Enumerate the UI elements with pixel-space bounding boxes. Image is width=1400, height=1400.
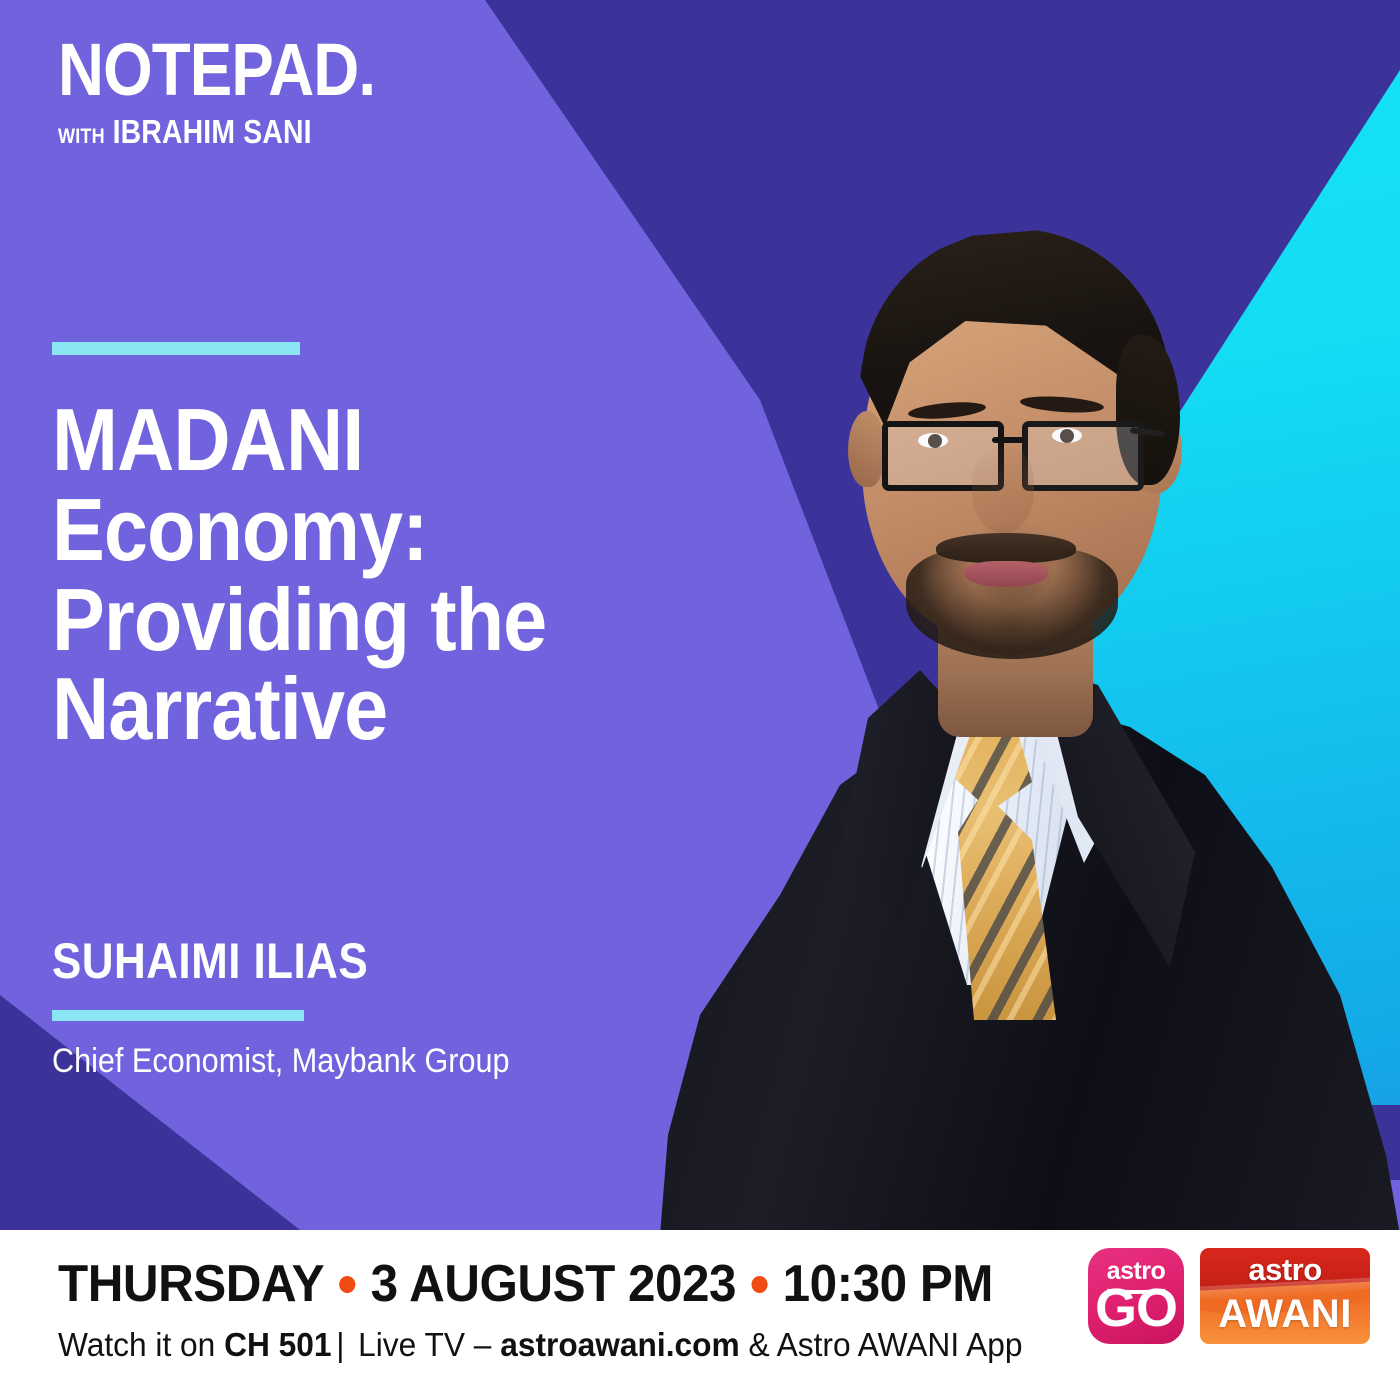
moustache	[936, 533, 1076, 563]
astro-awani-wordmark: astro	[1200, 1252, 1370, 1288]
watch-channel: CH 501	[224, 1326, 331, 1363]
show-host-line: WITH IBRAHIM SANI	[58, 113, 375, 151]
schedule-line: THURSDAY 3 AUGUST 2023 10:30 PM	[58, 1254, 993, 1314]
episode-title-line-2: Providing the	[52, 575, 682, 665]
watch-suffix: & Astro AWANI App	[740, 1326, 1023, 1363]
mouth	[964, 561, 1048, 587]
glasses-bridge	[992, 437, 1024, 443]
guest-role: Chief Economist, Maybank Group	[52, 1042, 510, 1081]
footer-bar: THURSDAY 3 AUGUST 2023 10:30 PM Watch it…	[0, 1230, 1400, 1400]
promo-poster: NOTEPAD. WITH IBRAHIM SANI MADANI Econom…	[0, 0, 1400, 1400]
watch-website[interactable]: astroawani.com	[500, 1326, 739, 1363]
astro-go-logo[interactable]: astro GO	[1088, 1248, 1184, 1344]
astro-go-label: GO	[1088, 1281, 1184, 1335]
watch-pipe: |	[332, 1326, 350, 1363]
separator-dot-icon-2	[751, 1276, 767, 1293]
partner-logos: astro GO astro AWANI	[1088, 1248, 1370, 1344]
schedule-date: 3 AUGUST 2023	[371, 1254, 736, 1314]
schedule-day: THURSDAY	[58, 1254, 324, 1314]
episode-title-line-1: MADANI Economy:	[52, 395, 682, 575]
show-logo: NOTEPAD. WITH IBRAHIM SANI	[58, 36, 427, 151]
with-label: WITH	[58, 125, 105, 149]
watch-prefix: Watch it on	[58, 1326, 224, 1363]
episode-title: MADANI Economy: Providing the Narrative	[52, 395, 682, 754]
astro-awani-label: AWANI	[1200, 1292, 1370, 1337]
lens-right	[1022, 421, 1144, 491]
guest-portrait	[620, 215, 1400, 1235]
show-title: NOTEPAD.	[58, 36, 375, 104]
title-accent-bar	[52, 342, 300, 355]
nose	[972, 447, 1034, 533]
astro-awani-logo[interactable]: astro AWANI	[1200, 1248, 1370, 1344]
separator-dot-icon	[339, 1276, 355, 1293]
schedule-time: 10:30 PM	[783, 1254, 993, 1314]
watch-info-line: Watch it on CH 501| Live TV – astroawani…	[58, 1326, 1023, 1364]
episode-title-line-3: Narrative	[52, 664, 682, 754]
guest-name: SUHAIMI ILIAS	[52, 932, 368, 990]
ear-left	[848, 411, 884, 487]
host-name: IBRAHIM SANI	[113, 113, 312, 151]
guest-accent-bar	[52, 1010, 304, 1021]
watch-livetv: Live TV –	[349, 1326, 500, 1363]
